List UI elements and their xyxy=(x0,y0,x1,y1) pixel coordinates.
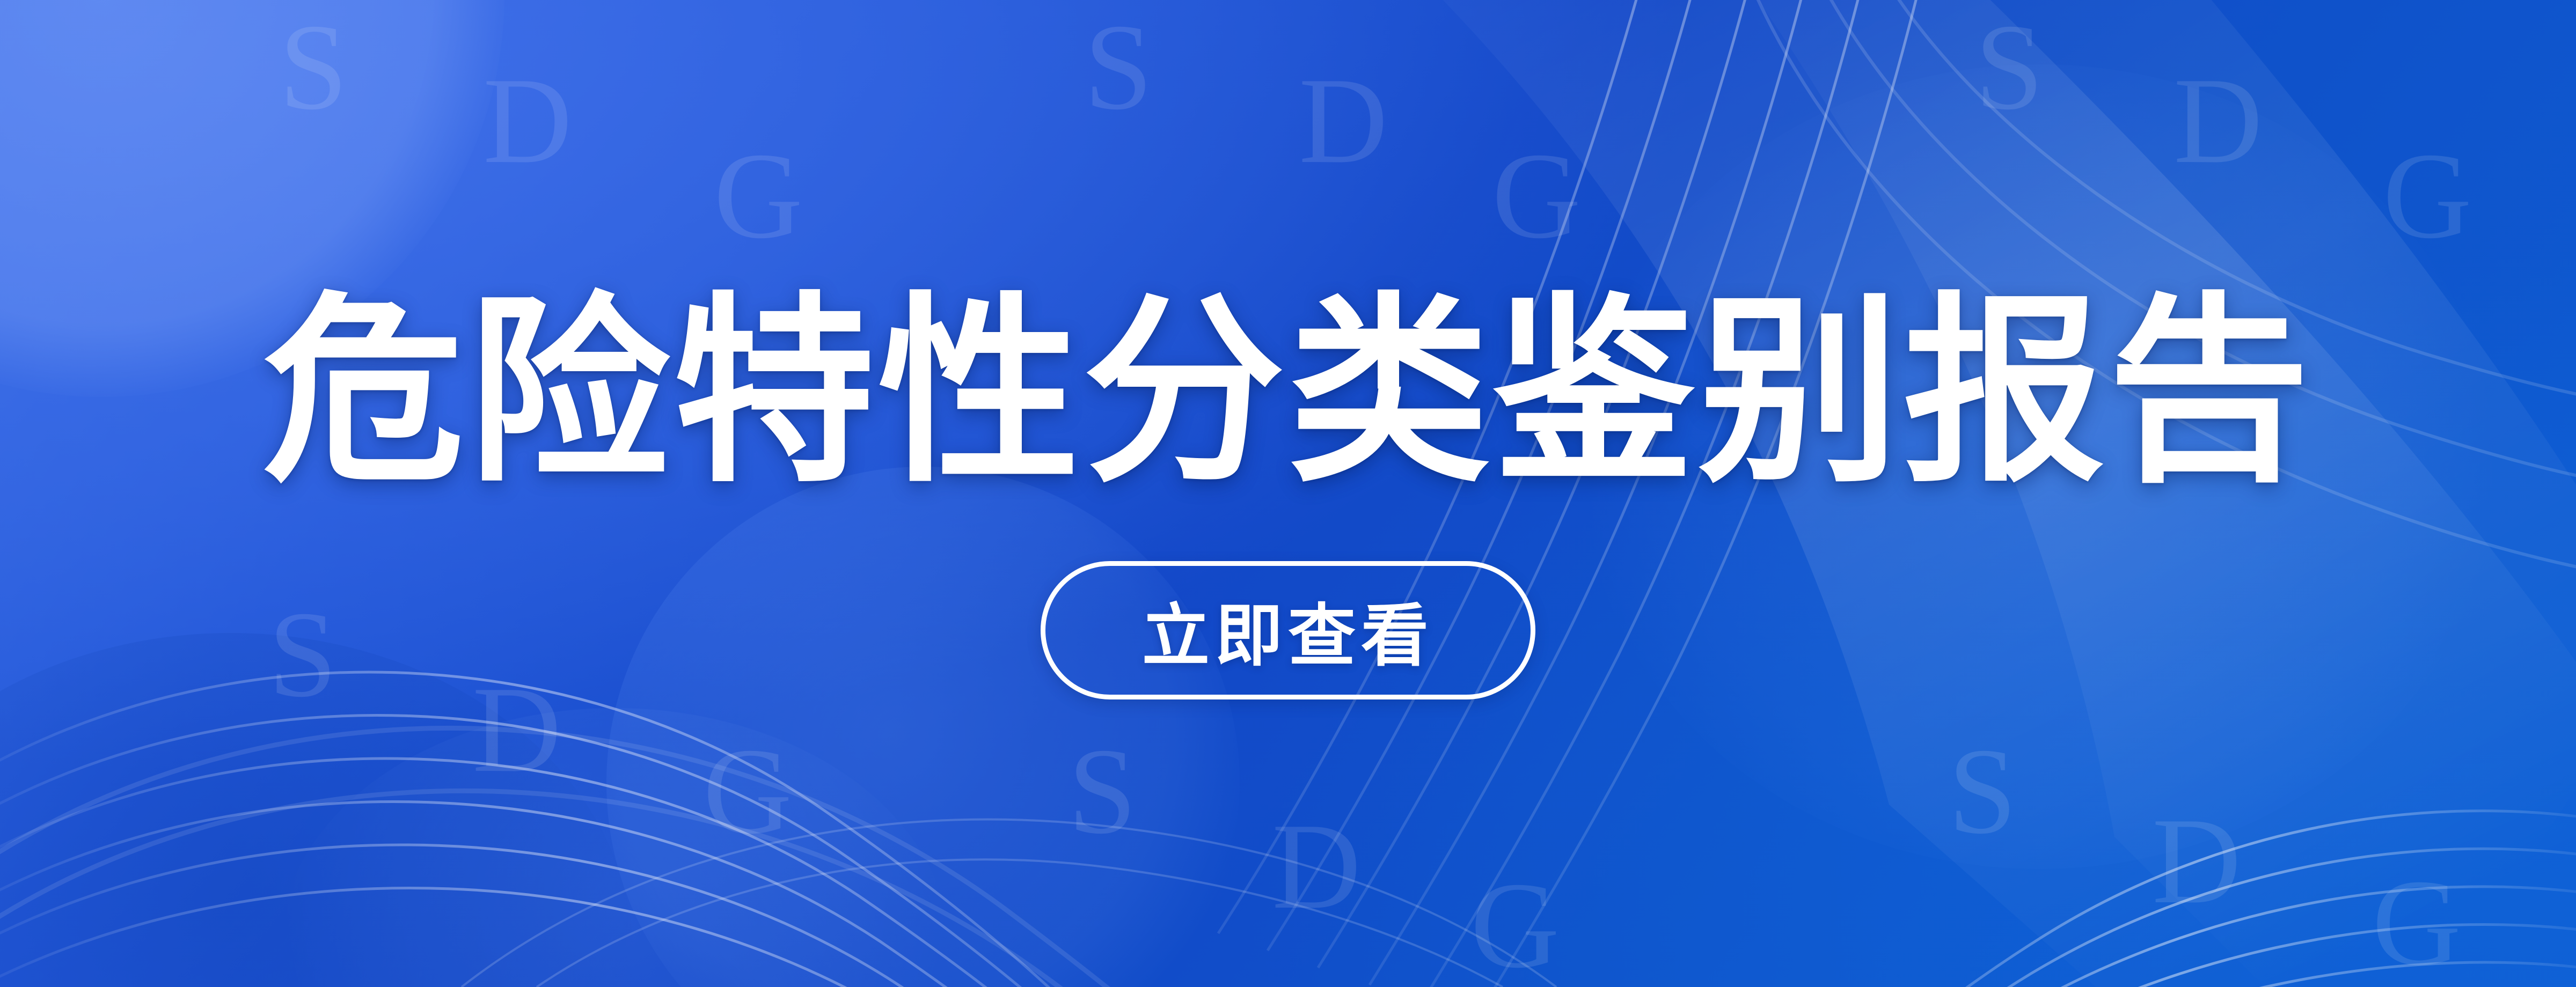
view-now-button-label: 立即查看 xyxy=(1142,581,1434,679)
banner-content: 危险特性分类鉴别报告 立即查看 xyxy=(0,0,2576,987)
promo-banner: SDGSDGSDGSDGSDGSDG 危险特性分类鉴别报告 立即查看 xyxy=(0,0,2576,987)
page-title: 危险特性分类鉴别报告 xyxy=(263,288,2313,497)
view-now-button[interactable]: 立即查看 xyxy=(1041,561,1535,699)
cta-container: 立即查看 xyxy=(1041,561,1535,699)
